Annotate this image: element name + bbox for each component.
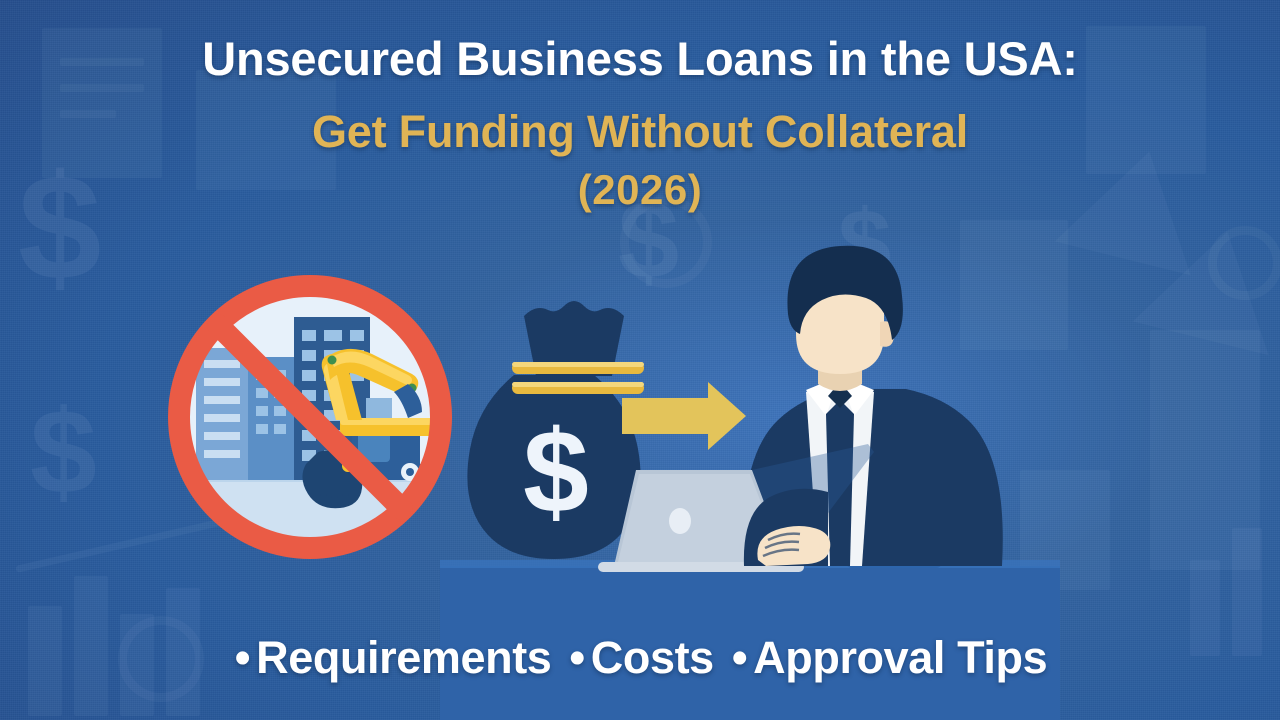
no-collateral-prohibition-sign	[179, 286, 441, 548]
page-title-line1: Unsecured Business Loans in the USA:	[0, 34, 1280, 85]
bullet-item-requirements: Requirements	[256, 632, 551, 683]
bullet-item-approval-tips: Approval Tips	[753, 632, 1047, 683]
bullet-dot-icon: •	[235, 632, 250, 684]
money-bag: $	[467, 301, 644, 559]
feature-bullets: •Requirements•Costs•Approval Tips	[0, 632, 1280, 684]
headline-block: Unsecured Business Loans in the USA: Get…	[0, 34, 1280, 212]
bullet-dot-icon: •	[732, 632, 747, 684]
bullet-dot-icon: •	[569, 632, 584, 684]
svg-text:$: $	[523, 406, 589, 538]
city-building	[196, 348, 248, 480]
money-bag-dollar-icon: $	[523, 406, 589, 538]
banner-root: $ $ $ $	[0, 0, 1280, 720]
page-title-year: (2026)	[0, 168, 1280, 212]
page-title-line2: Get Funding Without Collateral	[0, 108, 1280, 157]
bullet-item-costs: Costs	[591, 632, 714, 683]
